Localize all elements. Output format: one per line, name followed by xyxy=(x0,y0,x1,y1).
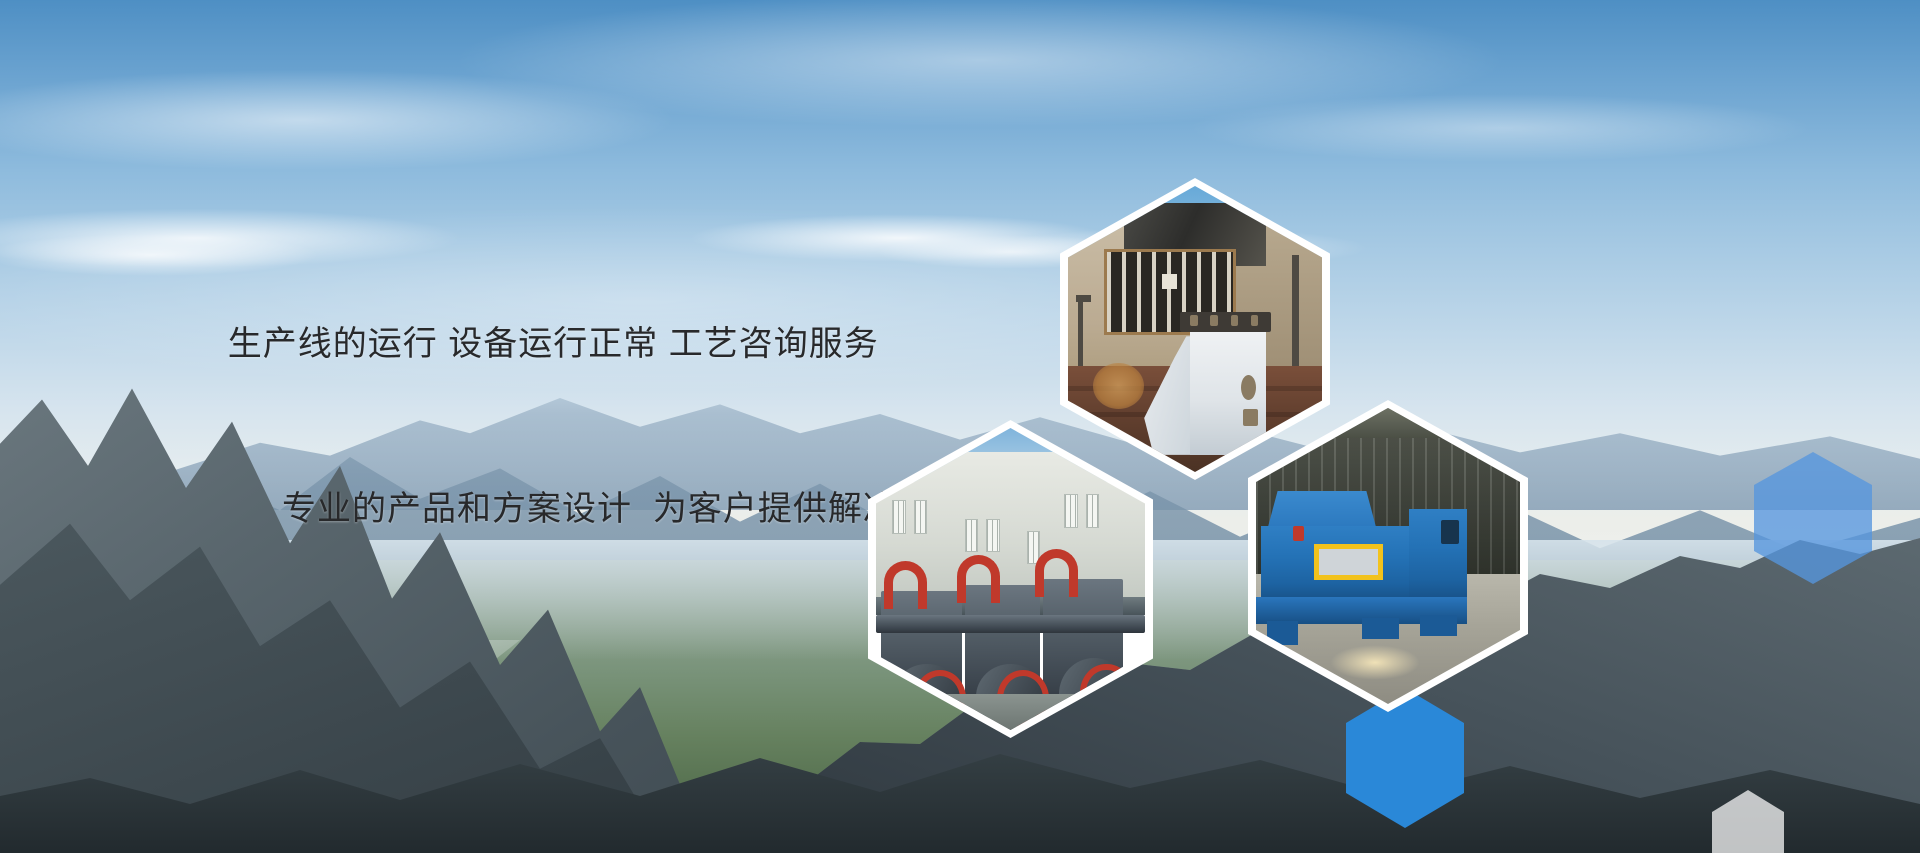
photo-refining-ladle xyxy=(1068,186,1322,472)
hex-photo-middle-image xyxy=(876,428,1145,730)
banner-headline: 生产线的运行 设备运行正常 工艺咨询服务 专业的产品和方案设计 为客户提供解决方… xyxy=(186,262,906,648)
headline-line-2: 专业的产品和方案设计 为客户提供解决方案 xyxy=(186,482,906,537)
hex-photo-top-image xyxy=(1068,186,1322,472)
hex-photo-right-image xyxy=(1256,408,1520,704)
photo-blue-shredder xyxy=(1256,408,1520,704)
hero-banner: 生产线的运行 设备运行正常 工艺咨询服务 专业的产品和方案设计 为客户提供解决方… xyxy=(0,0,1920,853)
photo-press-line xyxy=(876,428,1145,730)
headline-line-1: 生产线的运行 设备运行正常 工艺咨询服务 xyxy=(228,325,879,363)
